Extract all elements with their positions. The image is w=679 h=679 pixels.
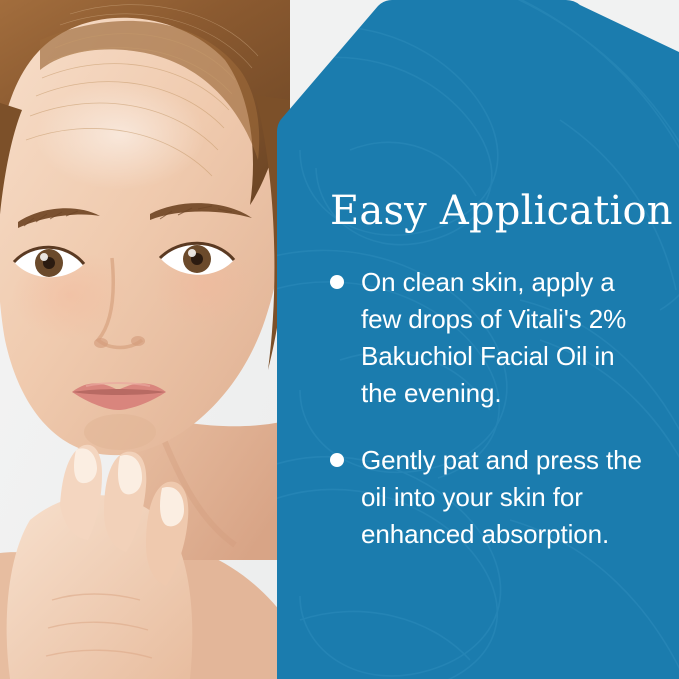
instruction-list: On clean skin, apply a few drops of Vita… <box>330 264 648 553</box>
list-item: Gently pat and press the oil into your s… <box>330 442 648 553</box>
list-item-text: Gently pat and press the oil into your s… <box>361 445 642 549</box>
panel-content: Easy Application On clean skin, apply a … <box>330 188 648 553</box>
list-item: On clean skin, apply a few drops of Vita… <box>330 264 648 412</box>
page-title: Easy Application <box>330 188 648 234</box>
bullet-point-icon <box>330 275 344 289</box>
list-item-text: On clean skin, apply a few drops of Vita… <box>361 267 626 408</box>
bullet-point-icon <box>330 453 344 467</box>
product-infographic-card: Easy Application On clean skin, apply a … <box>0 0 679 679</box>
